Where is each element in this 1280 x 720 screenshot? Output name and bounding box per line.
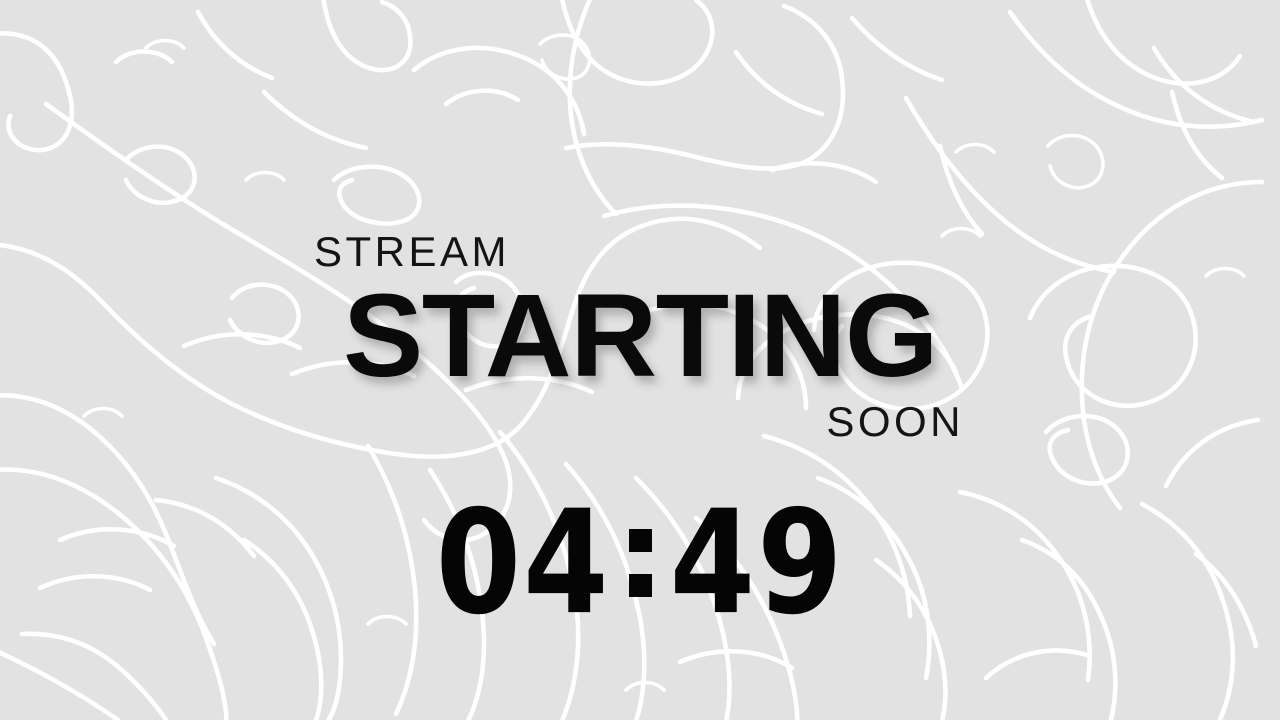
countdown-seconds: 49 [669,501,844,626]
countdown-timer: 04 49 [432,508,847,620]
colon-dot-top [629,529,652,552]
countdown-minutes: 04 [436,501,611,626]
colon-dot-bottom [629,574,652,597]
overlay-content: STREAM STARTING SOON 04 49 [0,0,1280,720]
page-title: STARTING [305,282,974,390]
countdown-colon-icon [629,529,652,597]
eyebrow-text: STREAM [312,228,968,276]
stream-starting-soon-screen: STREAM STARTING SOON 04 49 [0,0,1280,720]
subline-text: SOON [312,398,968,446]
headline-group: STREAM STARTING SOON [312,228,968,446]
